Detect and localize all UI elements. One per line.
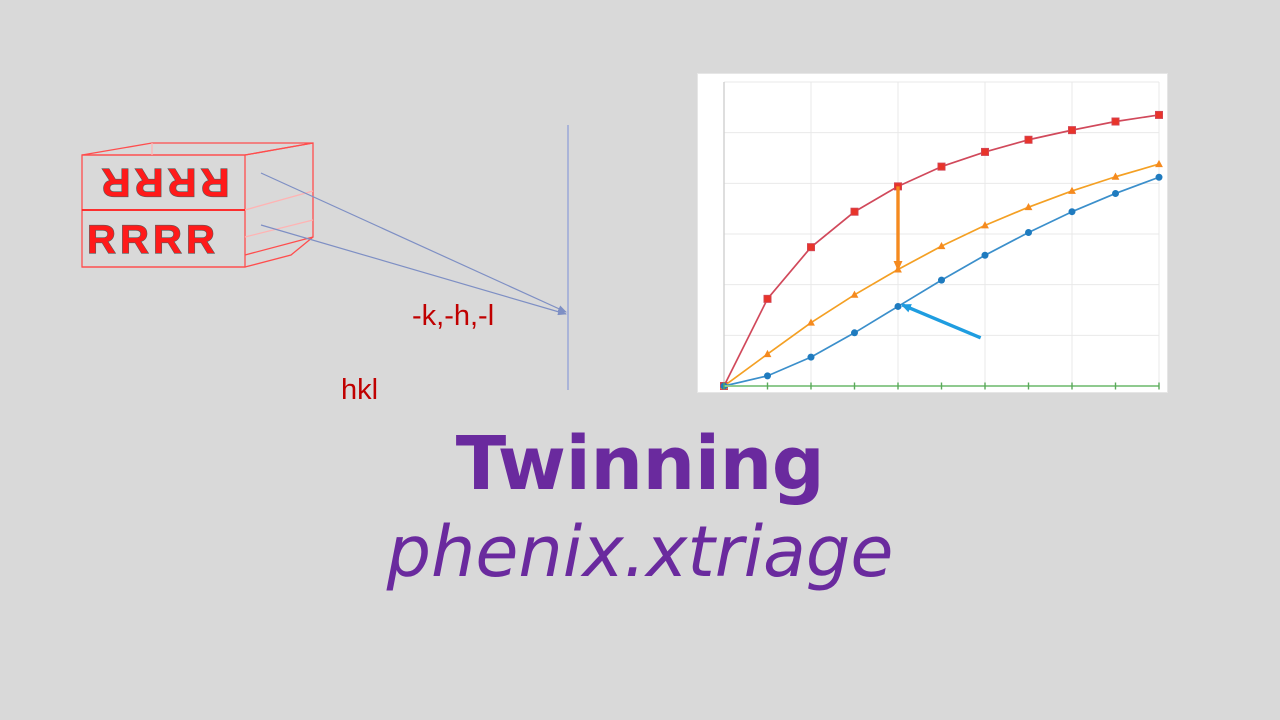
page-subtitle: phenix.xtriage (0, 506, 1280, 598)
lower-domain-letters: R R R R (87, 218, 215, 262)
lattice-letter-r: R (201, 160, 230, 204)
label-hkl: hkl (341, 374, 378, 407)
slide-canvas: R R R R R R R R (0, 0, 1280, 720)
upper-domain-letters: R R R R (102, 160, 230, 204)
intensity-statistics-chart (697, 73, 1168, 393)
chart-gridlines (724, 82, 1159, 386)
chart-series-untwinned (721, 174, 1163, 390)
lattice-letter-r: R (87, 218, 116, 262)
blue-pointer-arrow (902, 305, 980, 338)
lattice-letter-r: R (102, 160, 131, 204)
crystal-diagram: R R R R R R R R (60, 125, 580, 415)
chart-series-layer (720, 111, 1163, 389)
label-minus-k-minus-h-minus-l: -k,-h,-l (412, 300, 494, 333)
lattice-letter-r: R (120, 218, 149, 262)
lattice-letter-r: R (135, 160, 164, 204)
diffracted-beam-arrows (261, 173, 566, 314)
title-block: Twinning phenix.xtriage (0, 422, 1280, 598)
lattice-letter-r: R (153, 218, 182, 262)
chart-svg (698, 74, 1167, 392)
chart-series-partial-twin (720, 160, 1163, 389)
page-title: Twinning (0, 422, 1280, 506)
lattice-letter-r: R (186, 218, 215, 262)
chart-series-baseline (724, 383, 1159, 390)
lattice-letter-r: R (168, 160, 197, 204)
chart-series-perfect-twin (720, 111, 1162, 389)
